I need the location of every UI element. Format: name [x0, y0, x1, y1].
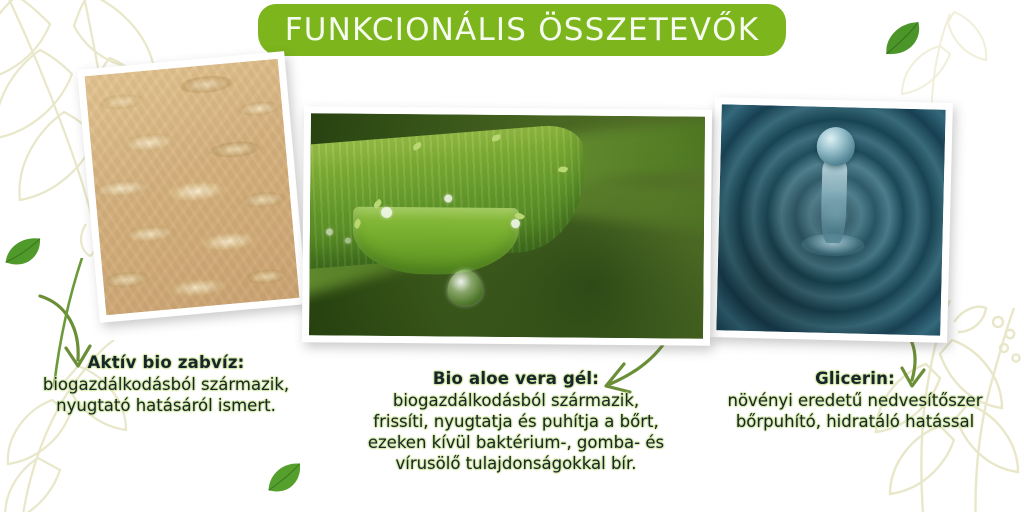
caption-water: Glicerin: növényi eredetű nedvesítőszer …: [690, 368, 1020, 432]
caption-line: bőrpuhító, hidratáló hatással: [690, 411, 1020, 432]
ingredient-photo-aloe: [302, 106, 712, 346]
leaf-icon: [875, 15, 932, 66]
aloe-vera-image: [309, 113, 705, 338]
caption-water-title: Glicerin:: [690, 368, 1020, 389]
caption-line: növényi eredetű nedvesítőszer: [690, 390, 1020, 411]
infographic-canvas: FUNKCIONÁLIS ÖSSZETEVŐK: [0, 0, 1024, 512]
oat-grains-image: [85, 59, 300, 316]
caption-water-body: növényi eredetű nedvesítőszer bőrpuhító,…: [690, 390, 1020, 432]
caption-line: frissíti, nyugtatja és puhítja a bőrt,: [330, 411, 702, 432]
caption-aloe: Bio aloe vera gél: biogazdálkodásból szá…: [330, 368, 702, 475]
leaf-icon: [0, 232, 52, 277]
ingredient-photo-oat: [77, 51, 307, 323]
caption-aloe-body: biogazdálkodásból származik, frissíti, n…: [330, 390, 702, 474]
page-title-banner: FUNKCIONÁLIS ÖSSZETEVŐK: [258, 4, 786, 56]
leaf-icon: [260, 457, 313, 503]
caption-line: nyugtató hatásáról ismert.: [6, 395, 326, 416]
caption-oat-title: Aktív bio zabvíz:: [6, 352, 326, 373]
caption-aloe-title: Bio aloe vera gél:: [330, 368, 702, 389]
caption-line: vírusölő tulajdonságokkal bír.: [330, 453, 702, 474]
ingredient-photo-water: [709, 97, 953, 343]
water-droplet-image: [716, 104, 945, 335]
caption-line: biogazdálkodásból származik,: [6, 374, 326, 395]
caption-oat-body: biogazdálkodásból származik, nyugtató ha…: [6, 374, 326, 416]
caption-line: biogazdálkodásból származik,: [330, 390, 702, 411]
caption-oat: Aktív bio zabvíz: biogazdálkodásból szár…: [6, 352, 326, 416]
caption-line: ezeken kívül baktérium-, gomba- és: [330, 432, 702, 453]
page-title: FUNKCIONÁLIS ÖSSZETEVŐK: [285, 15, 760, 46]
